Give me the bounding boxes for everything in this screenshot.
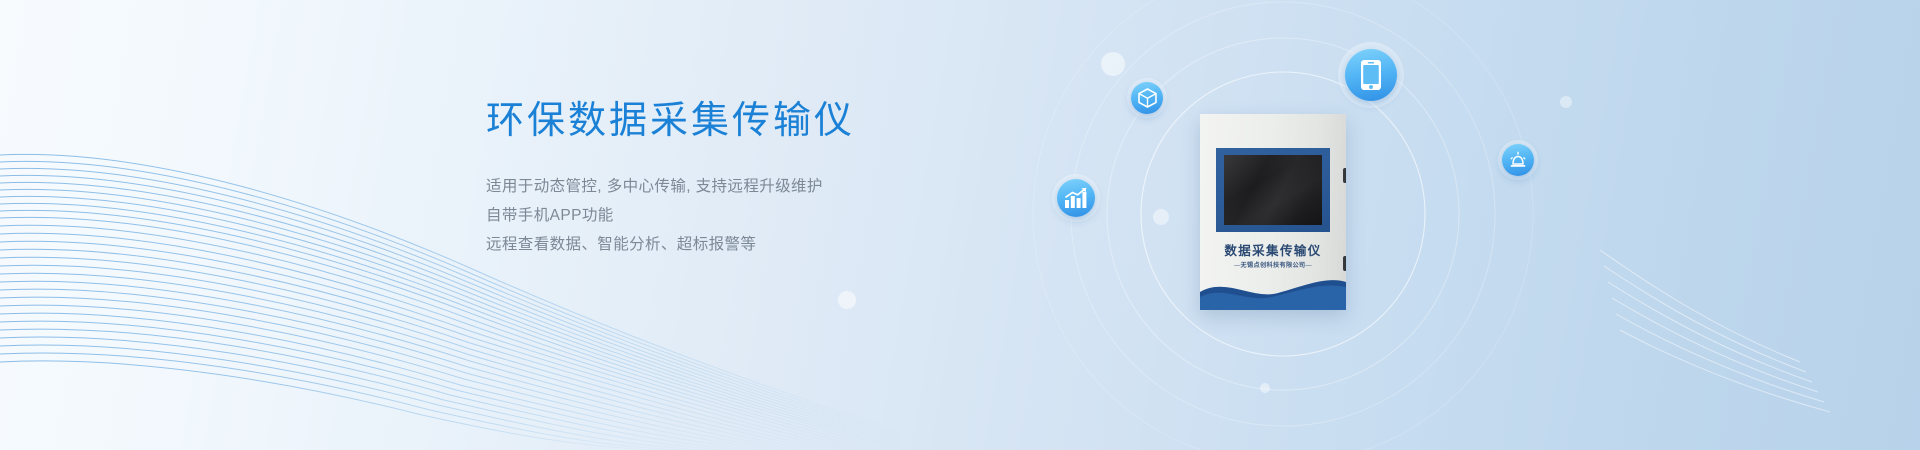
device-screen-bezel	[1216, 148, 1330, 232]
icon-disc	[1131, 82, 1163, 114]
product-scene: 数据采集传输仪 —无锡点创科技有限公司—	[1020, 0, 1640, 450]
bar-chart-icon[interactable]	[1052, 174, 1100, 222]
hero-banner: 环保数据采集传输仪 适用于动态管控, 多中心传输, 支持远程升级维护 自带手机A…	[0, 0, 1920, 450]
hero-subtitle-line-2: 自带手机APP功能	[486, 201, 1106, 230]
hero-subtitle-line-3: 远程查看数据、智能分析、超标报警等	[486, 230, 1106, 259]
device-company-label: —无锡点创科技有限公司—	[1200, 260, 1346, 269]
cube-glyph	[1138, 88, 1157, 108]
device-wave-graphic	[1200, 270, 1346, 310]
hero-subtitle-list: 适用于动态管控, 多中心传输, 支持远程升级维护 自带手机APP功能 远程查看数…	[486, 172, 1106, 259]
device-hinge-bottom	[1343, 256, 1346, 271]
hero-text-block: 环保数据采集传输仪 适用于动态管控, 多中心传输, 支持远程升级维护 自带手机A…	[486, 96, 1106, 259]
mobile-phone-glyph	[1360, 59, 1382, 91]
mobile-phone-icon[interactable]	[1338, 42, 1404, 108]
hero-subtitle-line-1: 适用于动态管控, 多中心传输, 支持远程升级维护	[486, 172, 1106, 201]
decor-circle	[838, 291, 856, 309]
icon-disc	[1057, 179, 1095, 217]
bar-chart-glyph	[1064, 187, 1088, 209]
alarm-light-icon[interactable]	[1498, 140, 1538, 180]
icon-disc	[1345, 49, 1397, 101]
device-hinge-top	[1343, 168, 1346, 183]
icon-disc	[1502, 144, 1534, 176]
page-title: 环保数据采集传输仪	[486, 96, 1106, 146]
cube-icon[interactable]	[1127, 78, 1167, 118]
device-brand-label: 数据采集传输仪	[1200, 240, 1346, 259]
alarm-light-glyph	[1508, 150, 1528, 170]
device-screen	[1224, 155, 1322, 225]
product-device-image: 数据采集传输仪 —无锡点创科技有限公司—	[1200, 114, 1346, 310]
